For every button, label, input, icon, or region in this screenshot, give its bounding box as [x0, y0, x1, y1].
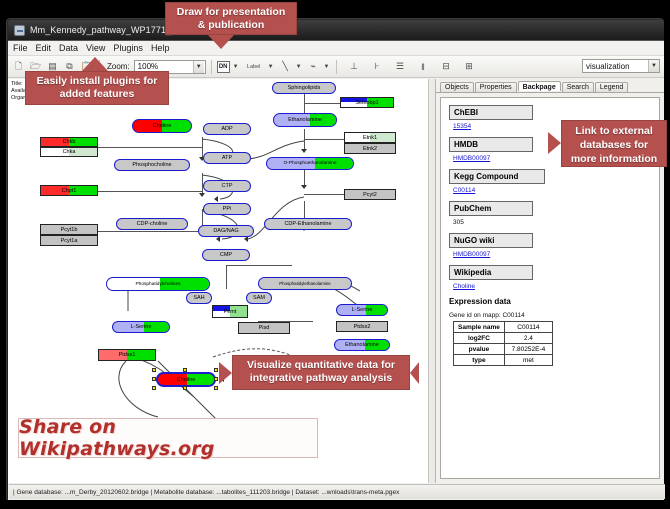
share-banner: Share on Wikipathways.org — [18, 418, 318, 458]
align-top-icon[interactable]: ⊥ — [346, 59, 361, 74]
cell-key: pvalue — [454, 344, 505, 355]
gene-box-pcyt1a[interactable]: Pcyt1a — [40, 235, 98, 246]
side-panel-tabs: Objects Properties Backpage Search Legen… — [436, 79, 664, 93]
node-label: CDP-Ethanolamine — [284, 221, 331, 227]
node-label: Ethanolamine — [345, 342, 379, 348]
callout-line-1: Visualize quantitative data for — [239, 359, 403, 372]
gene-label: Pcyt1b — [61, 227, 78, 233]
node-phosphatidylethanolamine[interactable]: Phosphatidylethanolamine — [258, 277, 352, 290]
tab-search[interactable]: Search — [562, 82, 594, 92]
cell-key: type — [454, 355, 505, 366]
cell-key: Sample name — [454, 322, 505, 333]
node-sah[interactable]: SAH — [186, 292, 212, 304]
node-label: SAM — [253, 295, 265, 301]
gene-label: Pcyt2 — [363, 192, 377, 198]
cell-value: 7.80252E-4 — [504, 344, 552, 355]
interaction-dropdown-icon[interactable]: ▼ — [324, 64, 330, 70]
edge-sphingolipids-to-ethanolamine — [304, 94, 305, 114]
selection-handle-w[interactable] — [152, 377, 156, 381]
label-dropdown-icon[interactable]: ▼ — [268, 64, 274, 70]
arrowhead-icon — [301, 185, 307, 189]
callout-visualize-quantitative-data: Visualize quantitative data for integrat… — [232, 355, 410, 390]
gene-label: Chkb — [63, 139, 76, 145]
common-width-icon[interactable]: ⊟ — [438, 59, 453, 74]
gene-label: Etnk2 — [363, 146, 377, 152]
gene-box-etnk2[interactable]: Etnk2 — [344, 143, 396, 154]
gene-id-on-mapp: Gene id on mapp: C00114 — [449, 312, 659, 319]
selection-handle-n[interactable] — [183, 368, 187, 372]
callout-line-2: added features — [32, 88, 162, 101]
db-link-wikipedia[interactable]: Choline — [453, 283, 659, 290]
menu-edit[interactable]: Edit — [36, 43, 52, 53]
status-bar: | Gene database: ...m_Derby_20120602.bri… — [9, 484, 665, 499]
gene-box-pcyt1b[interactable]: Pcyt1b — [40, 224, 98, 235]
table-row: pvalue 7.80252E-4 — [454, 344, 553, 355]
callout-line-1: Draw for presentation — [172, 6, 290, 19]
db-link-kegg-compound[interactable]: C00114 — [453, 187, 659, 194]
window-titlebar: Mm_Kennedy_pathway_WP1771_45176.gpml — [8, 20, 664, 40]
menu-data[interactable]: Data — [59, 43, 78, 53]
node-ethanolamine-top[interactable]: Ethanolamine — [273, 113, 337, 127]
gene-label: Ptdss1 — [119, 352, 136, 358]
node-choline-selected[interactable]: Choline — [156, 372, 216, 387]
selection-handle-se[interactable] — [214, 386, 218, 390]
canvas-vertical-scrollbar[interactable] — [428, 79, 435, 483]
gene-box-chka[interactable]: Chka — [40, 147, 98, 157]
gene-box-etnk1[interactable]: Etnk1 — [344, 132, 396, 143]
datanode-tool-icon[interactable]: DN — [217, 61, 230, 73]
callout-pointer-left-icon — [548, 132, 561, 154]
edge-pcyt2-to-reaction — [304, 194, 344, 195]
node-label: CMP — [220, 252, 232, 258]
expression-data-title: Expression data — [449, 297, 659, 306]
selection-handle-sw[interactable] — [152, 386, 156, 390]
callout-line-1: Easily install plugins for — [32, 75, 162, 88]
gene-label: Pisd — [259, 325, 270, 331]
tab-legend[interactable]: Legend — [595, 82, 628, 92]
gene-label: Selenbp1 — [355, 100, 378, 106]
line-dropdown-icon[interactable]: ▼ — [296, 64, 302, 70]
node-label: L-Serine — [131, 324, 152, 330]
callout-line-2: databases for — [568, 138, 660, 152]
align-left-icon[interactable]: ⊦ — [369, 59, 384, 74]
callout-line-2: integrative pathway analysis — [239, 372, 403, 385]
visualization-value: visualization — [586, 62, 630, 71]
node-label: CDP-choline — [137, 221, 168, 227]
share-banner-text: Share on Wikipathways.org — [19, 416, 317, 460]
gene-box-chpt1[interactable]: Chpt1 — [40, 185, 98, 196]
menu-bar: File Edit Data View Plugins Help — [8, 41, 664, 56]
node-phosphatidylcholines[interactable]: Phosphatidylcholines — [106, 277, 210, 291]
node-phosphocholine[interactable]: Phosphocholine — [114, 159, 190, 171]
node-label: Choline — [153, 123, 172, 129]
arrowhead-icon — [199, 193, 205, 197]
node-cmp[interactable]: CMP — [202, 249, 250, 261]
node-label: PPi — [223, 206, 232, 212]
cell-value: 2.4 — [504, 333, 552, 344]
callout-line-2: & publication — [172, 19, 290, 32]
node-label: Sphingolipids — [288, 85, 321, 91]
db-link-nugo-wiki[interactable]: HMDB00097 — [453, 251, 659, 258]
callout-easily-install-plugins: Easily install plugins for added feature… — [25, 71, 169, 105]
node-ppi[interactable]: PPi — [203, 203, 251, 215]
node-label: L-Serine — [352, 307, 373, 313]
menu-help[interactable]: Help — [151, 43, 170, 53]
callout-line-1: Link to external — [568, 124, 660, 138]
callout-pointer-left-icon — [219, 362, 232, 384]
app-icon — [14, 25, 25, 36]
node-sam[interactable]: SAM — [246, 292, 272, 304]
line-tool-icon[interactable]: ╲ — [278, 59, 293, 74]
node-atp[interactable]: ATP — [203, 152, 251, 164]
toolbar-separator-2 — [211, 60, 212, 74]
stack-center-icon[interactable]: ☰ — [392, 59, 407, 74]
node-adp[interactable]: ADP — [203, 123, 251, 135]
table-row: type met — [454, 355, 553, 366]
gene-box-ptdss2[interactable]: Ptdss2 — [336, 321, 388, 332]
node-label: CTP — [222, 183, 233, 189]
edge-ethanolamine-to-phosphoetn — [304, 129, 305, 151]
gene-label: Etnk1 — [363, 135, 377, 141]
menu-view[interactable]: View — [86, 43, 105, 53]
node-label: ATP — [222, 155, 232, 161]
node-label: Choline — [177, 377, 196, 383]
selection-handle-e[interactable] — [214, 377, 218, 381]
status-bar-text: | Gene database: ...m_Derby_20120602.bri… — [13, 489, 399, 496]
db-header-nugo-wiki: NuGO wiki — [449, 233, 533, 248]
node-o-phosphoethanolamine[interactable]: O-Phosphoethanolamine — [266, 157, 354, 170]
node-l-serine-left[interactable]: L-Serine — [112, 321, 170, 333]
node-l-serine-right[interactable]: L-Serine — [336, 304, 388, 316]
interaction-tool-icon[interactable]: ⌁ — [306, 59, 321, 74]
gene-box-ptdss1[interactable]: Ptdss1 — [98, 349, 156, 361]
edge-pcyt1-to-reaction — [98, 231, 202, 232]
edge-pemt-to-reaction — [226, 265, 227, 289]
visualization-combobox[interactable]: visualization ▼ — [582, 59, 660, 73]
callout-link-to-external-databases: Link to external databases for more info… — [561, 120, 667, 167]
node-cdp-choline[interactable]: CDP-choline — [116, 218, 188, 230]
selection-handle-s[interactable] — [183, 386, 187, 390]
selection-handle-ne[interactable] — [214, 368, 218, 372]
db-header-kegg-compound: Kegg Compound — [449, 169, 545, 184]
node-label: Ethanolamine — [288, 117, 322, 123]
zoom-value: 100% — [138, 62, 158, 71]
node-cdp-ethanolamine[interactable]: CDP-Ethanolamine — [264, 218, 352, 230]
edge-chpt1-to-reaction — [98, 191, 202, 192]
callout-pointer-up-icon — [82, 57, 108, 71]
callout-pointer-down-icon — [208, 35, 234, 49]
node-ctp[interactable]: CTP — [203, 180, 251, 192]
gene-box-pcyt2[interactable]: Pcyt2 — [344, 189, 396, 200]
gene-label: Chpt1 — [62, 188, 77, 194]
tab-properties[interactable]: Properties — [475, 82, 517, 92]
distribute-icon[interactable]: ‖ — [415, 59, 430, 74]
db-header-hmdb: HMDB — [449, 137, 533, 152]
expression-data-table: Sample name C00114 log2FC 2.4 pvalue 7.8… — [453, 321, 553, 366]
node-label: Phosphatidylethanolamine — [279, 281, 331, 286]
db-header-chebi: ChEBI — [449, 105, 533, 120]
new-file-icon[interactable]: 🗋 — [11, 59, 26, 74]
cell-key: log2FC — [454, 333, 505, 344]
label-tool-icon[interactable]: Label — [243, 59, 265, 74]
db-value-pubchem: 305 — [453, 219, 659, 226]
gene-box-chkb[interactable]: Chkb — [40, 137, 98, 147]
node-dag-nag[interactable]: DAG/NAG — [198, 225, 254, 237]
table-row: Sample name C00114 — [454, 322, 553, 333]
node-label: O-Phosphoethanolamine — [283, 161, 336, 166]
node-label: SAH — [193, 295, 204, 301]
tab-backpage[interactable]: Backpage — [518, 81, 561, 91]
screenshot-root: Mm_Kennedy_pathway_WP1771_45176.gpml Fil… — [0, 0, 670, 509]
chevron-down-icon[interactable]: ▼ — [193, 61, 204, 73]
node-choline-top[interactable]: Choline — [132, 119, 192, 133]
gene-box-selenbp1[interactable]: Selenbp1 — [340, 97, 394, 108]
edge-chk-to-reaction — [98, 147, 202, 148]
gene-label: Pemt — [224, 309, 237, 315]
datanode-dropdown-icon[interactable]: ▼ — [233, 64, 239, 70]
table-row: log2FC 2.4 — [454, 333, 553, 344]
selection-handle-nw[interactable] — [152, 368, 156, 372]
gene-box-pisd[interactable]: Pisd — [238, 322, 290, 334]
gene-box-pemt[interactable]: Pemt — [212, 305, 248, 318]
node-sphingolipids[interactable]: Sphingolipids — [272, 82, 336, 94]
node-label: ADP — [221, 126, 232, 132]
node-ethanolamine-bottom[interactable]: Ethanolamine — [334, 339, 390, 351]
gene-label: Chka — [63, 149, 76, 155]
toolbar-separator-3 — [336, 60, 337, 74]
edge-selenbp1-to-reaction — [304, 103, 340, 104]
zoom-label: Zoom: — [107, 62, 130, 71]
menu-plugins[interactable]: Plugins — [113, 43, 143, 53]
callout-line-3: more information — [568, 152, 660, 166]
edge-pemt-branch — [226, 265, 292, 266]
arrowhead-icon — [301, 149, 307, 153]
menu-file[interactable]: File — [13, 43, 28, 53]
callout-draw-for-presentation: Draw for presentation & publication — [165, 2, 297, 35]
gene-label: Ptdss2 — [354, 324, 371, 330]
chevron-down-icon[interactable]: ▼ — [648, 60, 659, 72]
db-header-pubchem: PubChem — [449, 201, 533, 216]
arrowhead-icon — [214, 196, 218, 202]
cell-value: C00114 — [504, 322, 552, 333]
node-label: DAG/NAG — [213, 228, 238, 234]
tab-objects[interactable]: Objects — [440, 82, 474, 92]
node-label: Phosphatidylcholines — [135, 282, 180, 287]
callout-notch-right-icon — [410, 362, 419, 384]
common-height-icon[interactable]: ⊞ — [461, 59, 476, 74]
db-header-wikipedia: Wikipedia — [449, 265, 533, 280]
cell-value: met — [504, 355, 552, 366]
gene-label: Pcyt1a — [61, 238, 78, 244]
node-label: Phosphocholine — [132, 162, 171, 168]
